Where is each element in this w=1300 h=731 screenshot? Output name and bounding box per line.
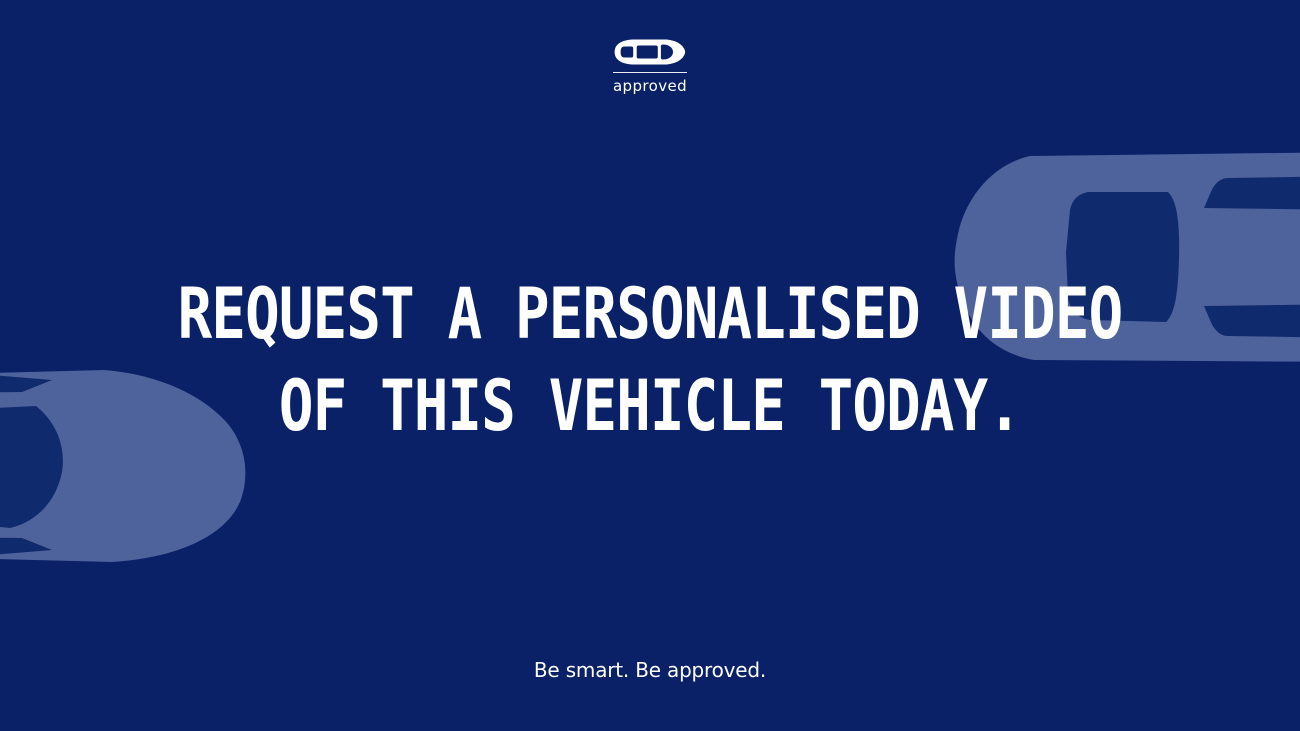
- brand-logo: approved: [0, 38, 1300, 95]
- page-title: REQUEST A PERSONALISED VIDEO OF THIS VEH…: [0, 268, 1300, 452]
- logo-divider-rule: [613, 72, 687, 73]
- promo-banner: approved REQUEST A PERSONALISED VIDEO OF…: [0, 0, 1300, 731]
- logo-wordmark: approved: [613, 78, 687, 95]
- car-top-view-icon: [614, 38, 686, 66]
- headline-line-1: REQUEST A PERSONALISED VIDEO: [117, 268, 1183, 360]
- headline-line-2: OF THIS VEHICLE TODAY.: [117, 360, 1183, 452]
- brand-tagline: Be smart. Be approved.: [0, 658, 1300, 682]
